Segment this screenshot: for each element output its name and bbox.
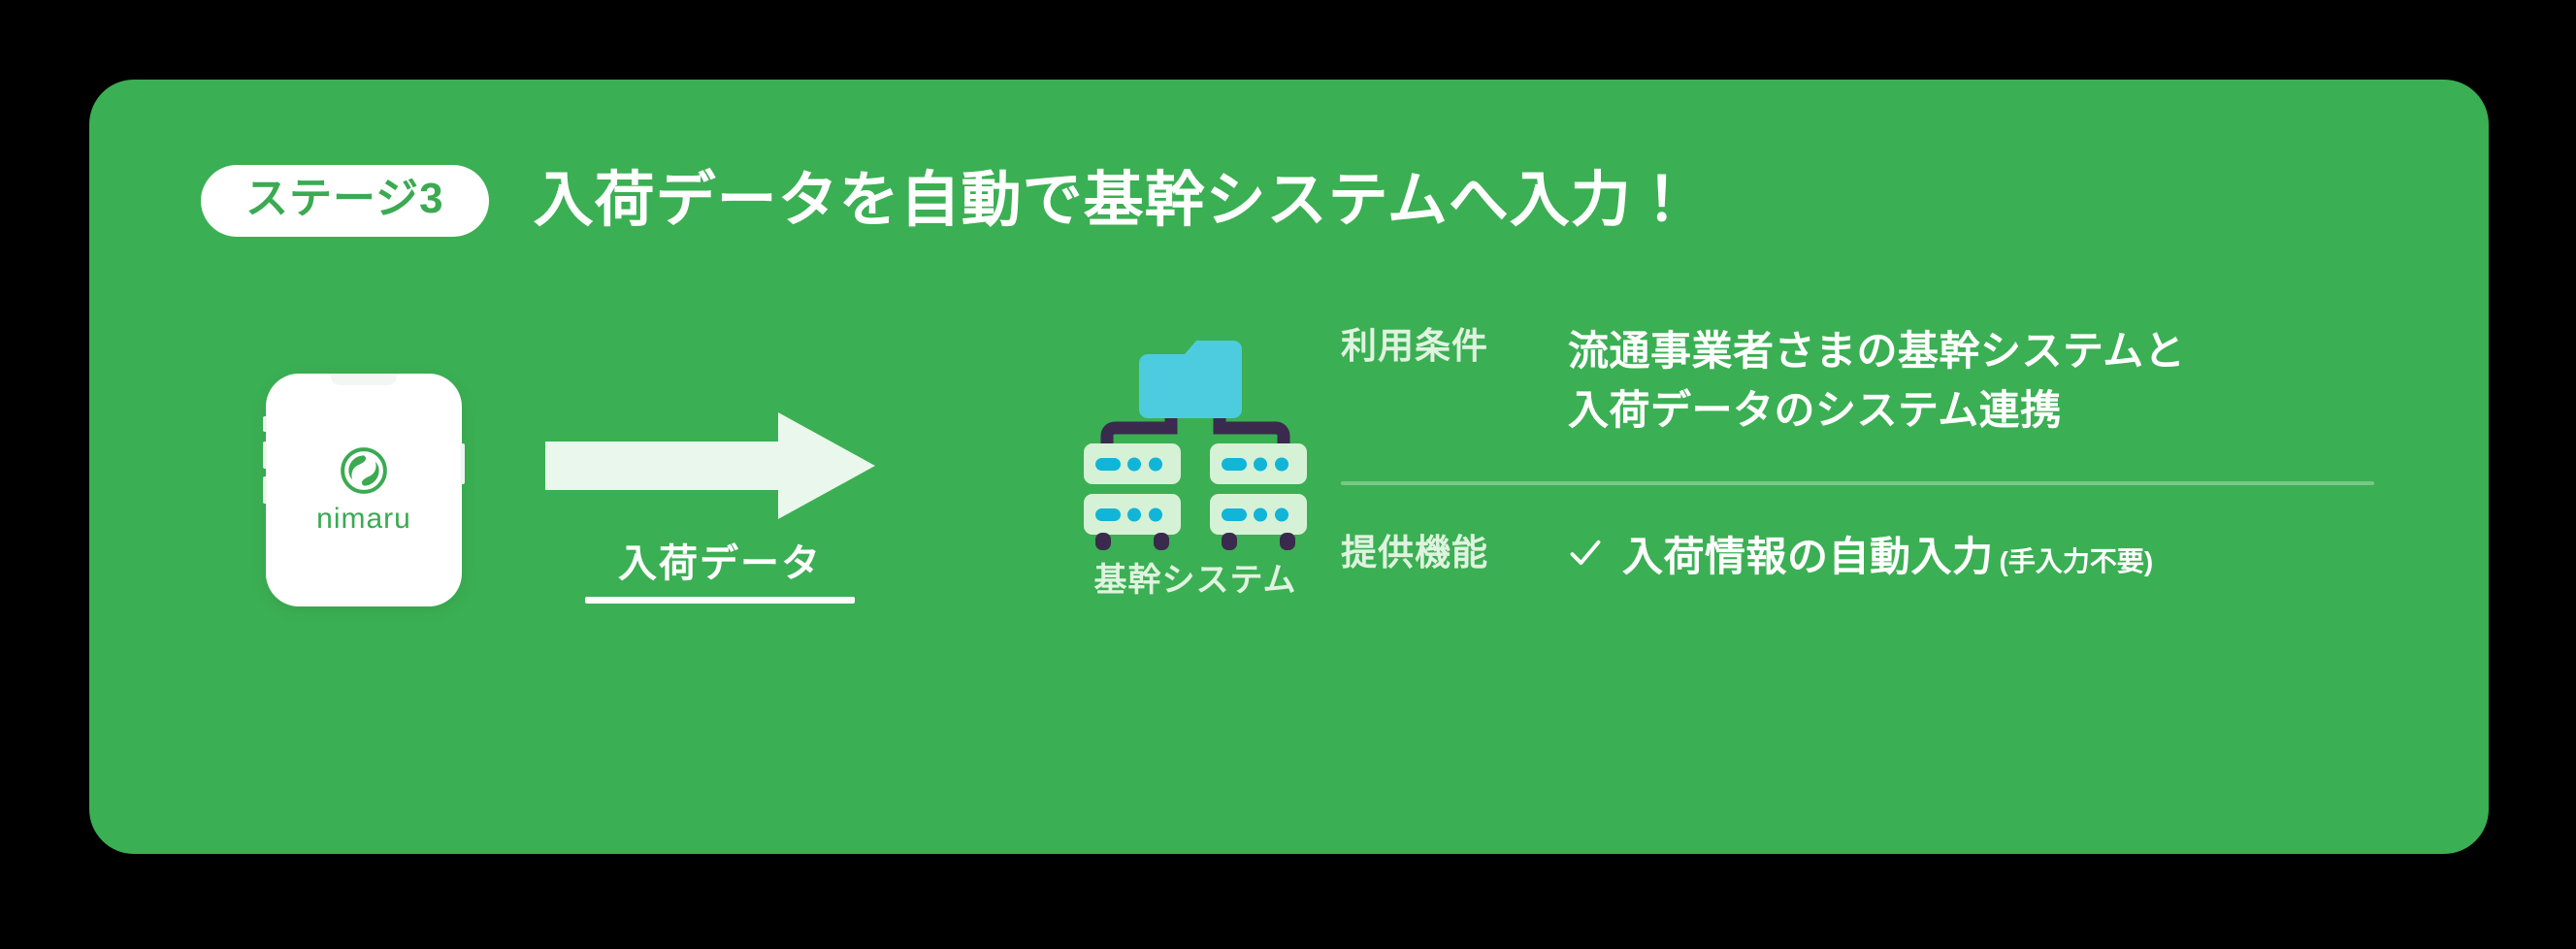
- phone-mockup: nimaru: [266, 374, 462, 606]
- spec-label-condition: 利用条件: [1341, 322, 1512, 371]
- right-arrow-icon: [545, 412, 875, 519]
- spec-value-feature-note: (手入力不要): [2000, 540, 2154, 579]
- phone-frame: nimaru: [266, 374, 462, 606]
- spec-divider: [1341, 481, 2374, 485]
- spec-row-feature: 提供機能 入荷情報の自動入力 (手入力不要): [1341, 524, 2398, 583]
- spec-value-feature-main: 入荷情報の自動入力: [1622, 524, 1994, 583]
- nimaru-wordmark: nimaru: [316, 505, 411, 534]
- stage-badge: ステージ3: [201, 165, 489, 237]
- server-stack-graphic-icon: [1074, 327, 1317, 550]
- page-title: 入荷データを自動で基幹システムへ入力！: [534, 171, 1693, 231]
- nimaru-logo-mark-icon: [340, 446, 388, 495]
- spec-label-feature: 提供機能: [1341, 529, 1512, 577]
- spec-row-condition: 利用条件 流通事業者さまの基幹システムと 入荷データのシステム連携: [1341, 322, 2398, 441]
- check-icon: [1568, 536, 1603, 571]
- stage-card: ステージ3 入荷データを自動で基幹システムへ入力！ nimaru: [89, 80, 2489, 854]
- flow-caption-underline: [585, 597, 855, 604]
- flow-caption: 入荷データ: [545, 544, 895, 583]
- spec-panel: 利用条件 流通事業者さまの基幹システムと 入荷データのシステム連携 提供機能 入…: [1341, 322, 2398, 583]
- core-system-group: 基幹システム: [1021, 327, 1370, 597]
- card-header: ステージ3 入荷データを自動で基幹システムへ入力！: [201, 165, 1693, 237]
- core-system-caption: 基幹システム: [1094, 564, 1297, 597]
- spec-value-feature: 入荷情報の自動入力 (手入力不要): [1568, 524, 2153, 583]
- spec-value-condition-line-1: 流通事業者さまの基幹システムと: [1568, 322, 2185, 381]
- spec-value-condition: 流通事業者さまの基幹システムと 入荷データのシステム連携: [1568, 322, 2185, 441]
- data-flow-group: 入荷データ: [545, 412, 895, 604]
- spec-value-condition-line-2: 入荷データのシステム連携: [1568, 381, 2185, 441]
- phone-screen: nimaru: [266, 374, 462, 606]
